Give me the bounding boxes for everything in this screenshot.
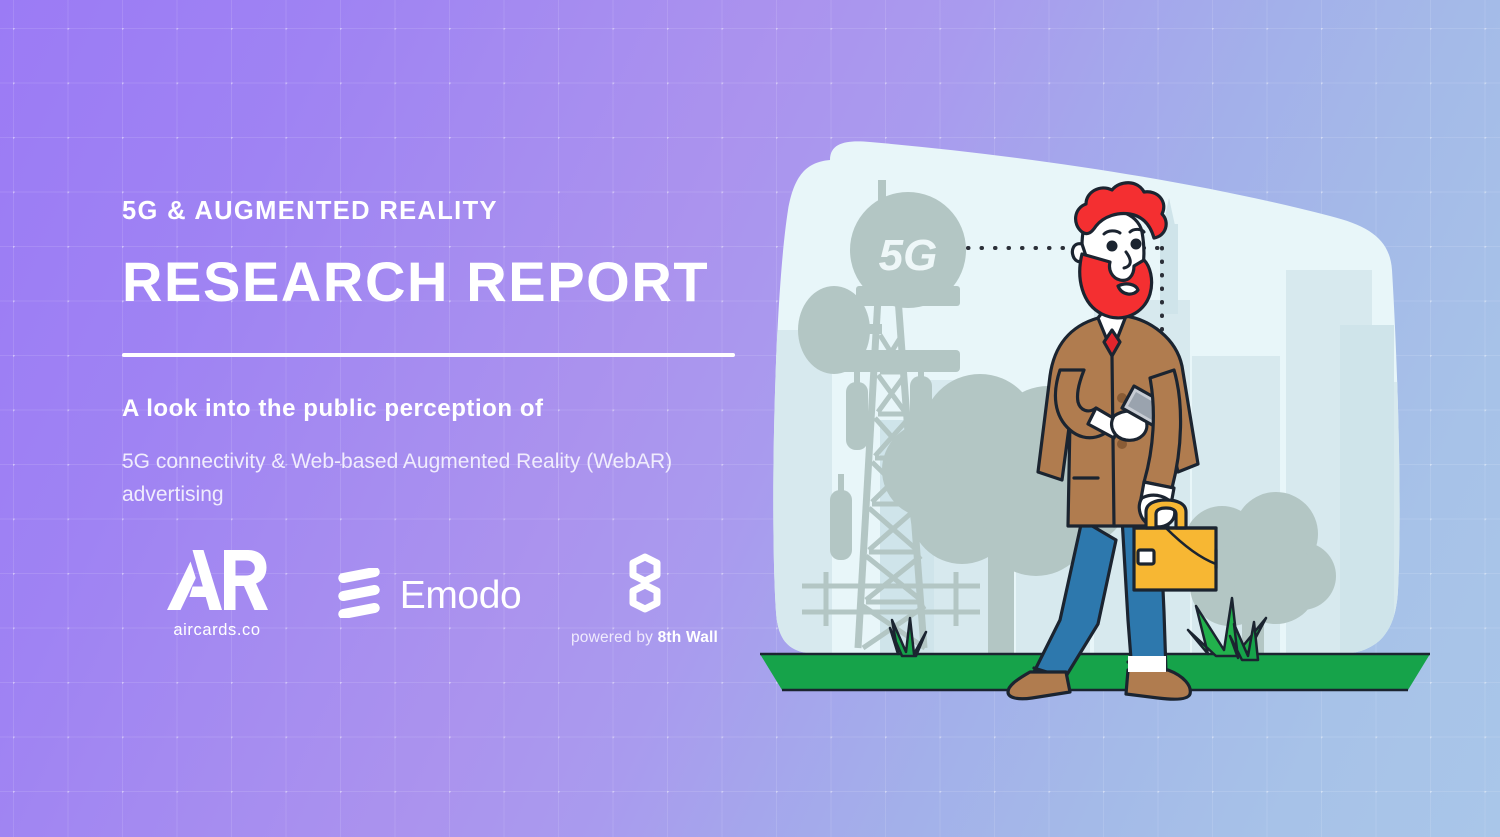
page-title: RESEARCH REPORT <box>122 253 782 312</box>
hero-description: 5G connectivity & Web-based Augmented Re… <box>122 446 747 511</box>
hero-lede: A look into the public perception of <box>122 395 782 424</box>
hexagon-eight-icon <box>622 552 668 619</box>
logo-emodo[interactable]: Emodo <box>312 548 547 623</box>
logo-emodo-label: Emodo <box>400 576 522 615</box>
badge-5g-text: 5G <box>879 231 938 280</box>
report-cover: 5G & AUGMENTED REALITY RESEARCH REPORT A… <box>0 0 1500 837</box>
logo-aircards-label: aircards.co <box>173 621 260 640</box>
badge-5g: 5G <box>850 192 966 308</box>
logo-aircards[interactable]: aircards.co <box>122 548 312 640</box>
logo-eighth-wall-prefix: powered by <box>571 629 658 646</box>
logo-eighth-wall-label: powered by 8th Wall <box>571 629 718 647</box>
hero-text-column: 5G & AUGMENTED REALITY RESEARCH REPORT A… <box>122 196 782 511</box>
emodo-bars-icon <box>338 568 382 623</box>
title-divider <box>122 353 735 357</box>
ground-plane <box>760 654 1430 690</box>
hero-eyebrow: 5G & AUGMENTED REALITY <box>122 196 782 227</box>
ar-monogram-icon <box>162 548 272 619</box>
logo-eighth-wall-brand: 8th Wall <box>658 629 718 646</box>
partner-logo-row: aircards.co Emodo <box>122 548 742 647</box>
logo-eighth-wall[interactable]: powered by 8th Wall <box>547 548 742 647</box>
hero-illustration: 5G <box>730 120 1450 720</box>
